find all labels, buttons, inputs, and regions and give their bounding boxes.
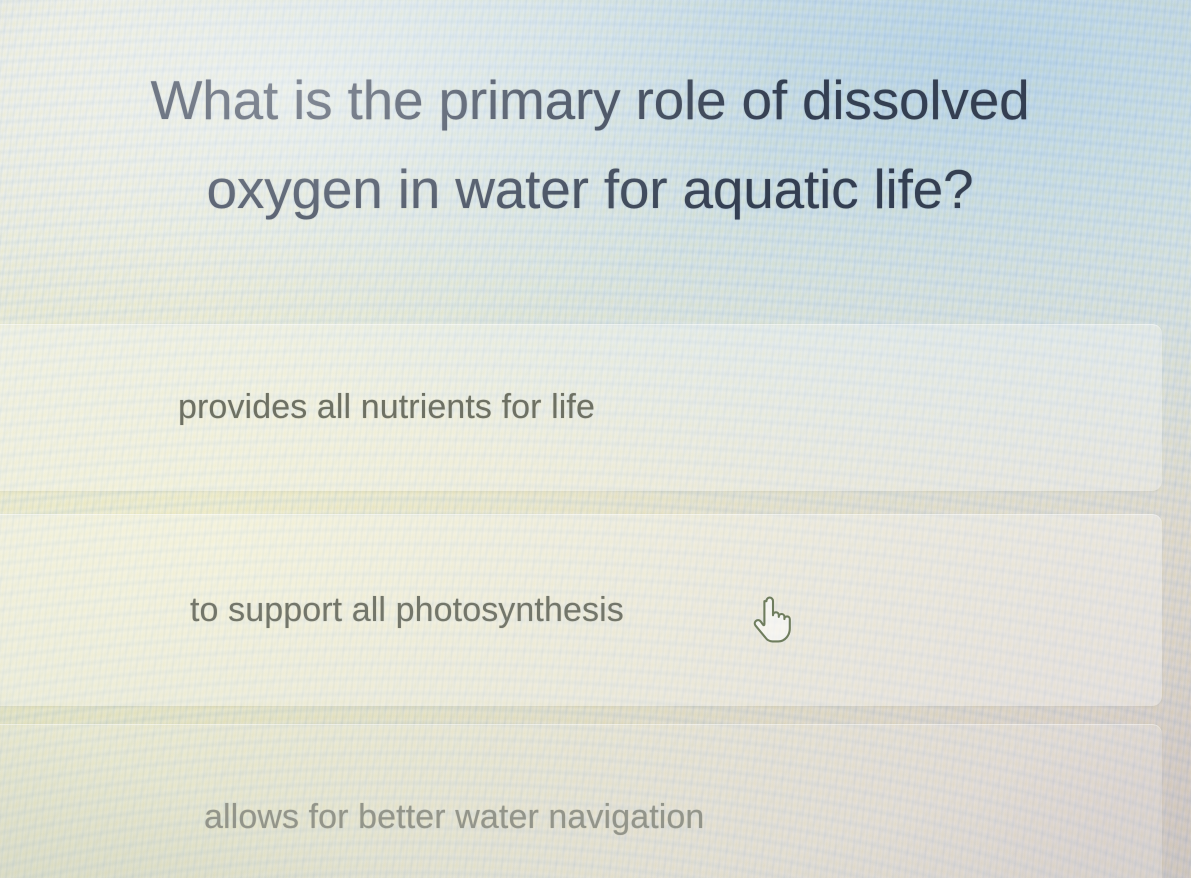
answer-option-2-label: to support all photosynthesis <box>190 591 624 630</box>
quiz-content: What is the primary role of dissolved ox… <box>0 0 1191 878</box>
question-text: What is the primary role of dissolved ox… <box>60 56 1120 234</box>
quiz-screen-photo: What is the primary role of dissolved ox… <box>0 0 1191 878</box>
answer-option-1-label: provides all nutrients for life <box>178 388 595 427</box>
answer-option-3[interactable]: allows for better water navigation <box>0 724 1162 878</box>
answer-option-3-label: allows for better water navigation <box>204 798 704 837</box>
answer-option-1[interactable]: provides all nutrients for life <box>0 324 1162 491</box>
answer-option-2[interactable]: to support all photosynthesis <box>0 514 1162 706</box>
